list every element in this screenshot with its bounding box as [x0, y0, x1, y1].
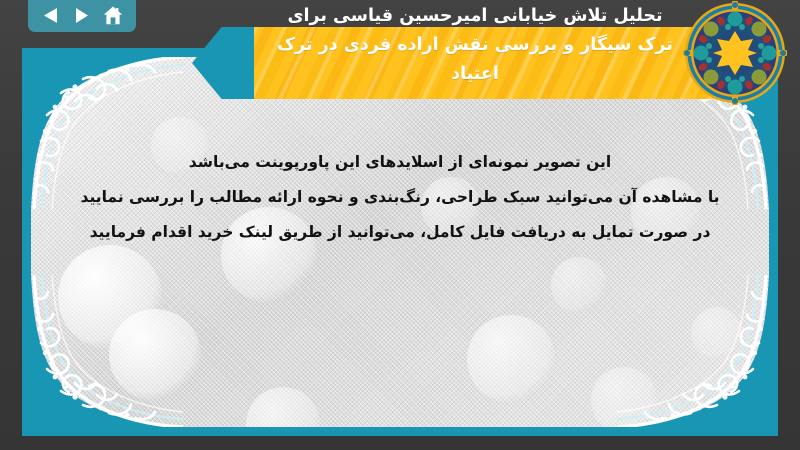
slide-canvas: این تصویر نمونه‌ای از اسلایدهای این پاور… [0, 0, 800, 450]
forward-arrow-icon [75, 7, 89, 24]
banner-body-shape [254, 27, 752, 99]
navigation-bar[interactable] [28, 0, 136, 32]
arabesque-corner-icon [617, 275, 769, 427]
title-banner [192, 27, 752, 99]
persian-medallion-icon [683, 1, 787, 105]
body-line: در صورت تمایل به دریافت فایل کامل، می‌تو… [71, 215, 729, 250]
forward-button[interactable] [69, 3, 95, 27]
home-icon [103, 6, 123, 25]
slide-content-area: این تصویر نمونه‌ای از اسلایدهای این پاور… [31, 57, 769, 427]
arabesque-corner-icon [31, 275, 183, 427]
body-line: با مشاهده آن می‌توانید سبک طراحی، رنگ‌بن… [71, 180, 729, 215]
home-button[interactable] [100, 3, 126, 27]
back-arrow-icon [43, 7, 59, 24]
slide-body-text: این تصویر نمونه‌ای از اسلایدهای این پاور… [71, 145, 729, 250]
body-line: این تصویر نمونه‌ای از اسلایدهای این پاور… [71, 145, 729, 180]
back-button[interactable] [38, 3, 64, 27]
slide-frame: این تصویر نمونه‌ای از اسلایدهای این پاور… [22, 48, 778, 436]
